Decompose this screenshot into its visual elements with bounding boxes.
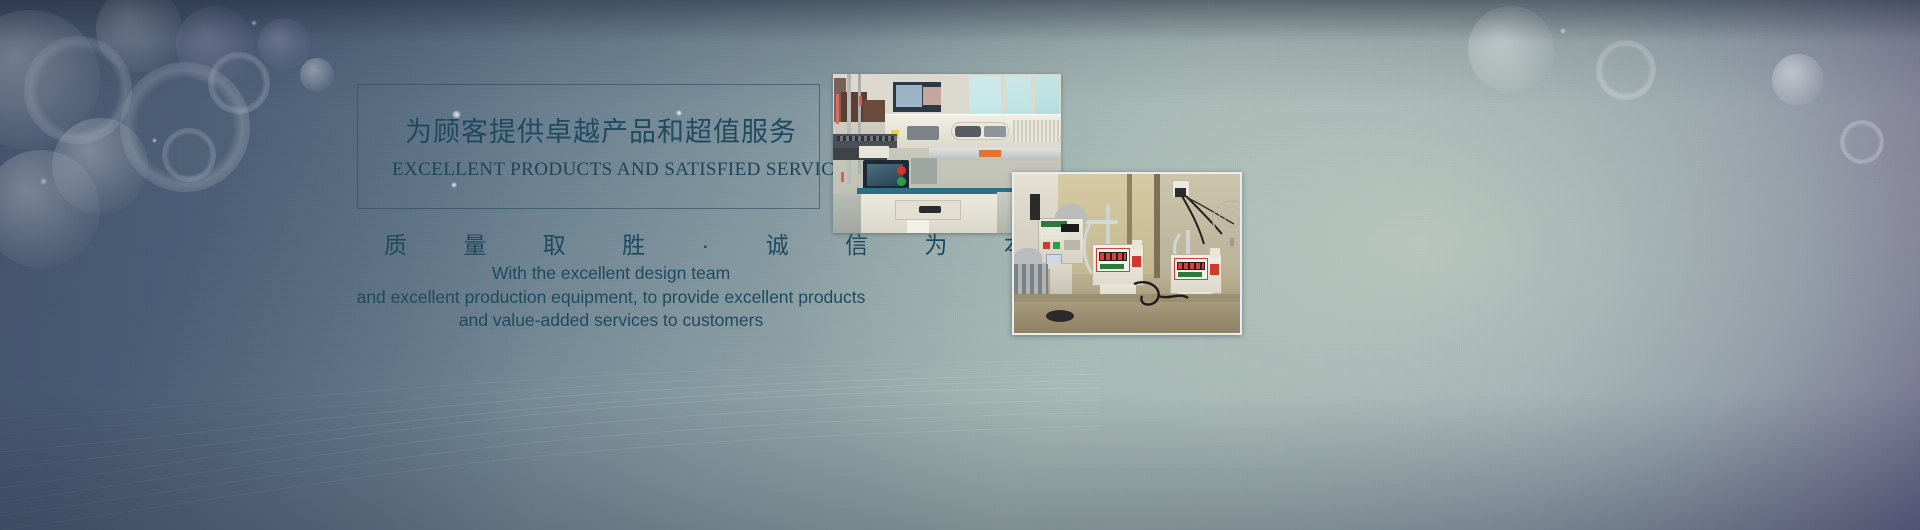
sparkle-dot: [40, 178, 47, 185]
bokeh-circle: [0, 10, 100, 150]
sparkle-dot: [251, 20, 257, 26]
bokeh-circle: [162, 128, 216, 182]
bokeh-circle: [176, 6, 254, 84]
body-line: With the excellent design team: [250, 262, 972, 286]
sparkle-dot: [1560, 28, 1566, 34]
body-paragraph: With the excellent design team and excel…: [250, 262, 972, 333]
bokeh-circle: [258, 18, 310, 70]
bokeh-circle: [1840, 120, 1884, 164]
bokeh-circle: [0, 150, 100, 268]
headline-chinese: 为顾客提供卓越产品和超值服务: [405, 110, 797, 149]
bokeh-circle: [52, 118, 148, 214]
bokeh-circle: [24, 36, 132, 144]
bokeh-circle: [96, 0, 182, 72]
bokeh-circle: [300, 58, 334, 92]
body-line: and excellent production equipment, to p…: [250, 286, 972, 310]
body-line: and value-added services to customers: [250, 309, 972, 333]
headline-english: EXCELLENT PRODUCTS AND SATISFIED SERVICE: [392, 159, 846, 181]
sparkle-dot: [152, 138, 157, 143]
bokeh-circle: [1772, 54, 1824, 106]
bokeh-circle: [208, 52, 270, 114]
bokeh-circle: [1468, 6, 1554, 92]
promo-banner: 为顾客提供卓越产品和超值服务 EXCELLENT PRODUCTS AND SA…: [0, 0, 1920, 530]
bokeh-circle: [120, 62, 250, 192]
bokeh-circle: [1596, 40, 1656, 100]
workshop-press-machines-photo: [1012, 172, 1242, 335]
